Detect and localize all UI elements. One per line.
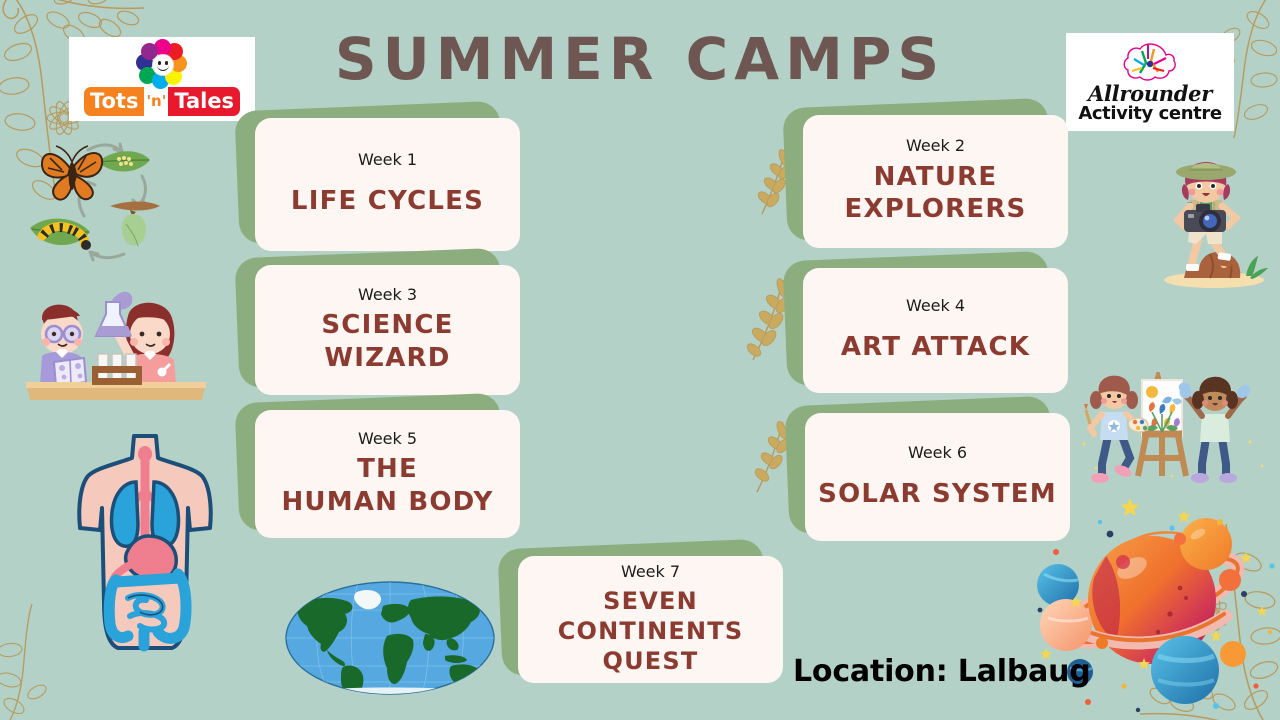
card-title-line: SCIENCE bbox=[321, 309, 453, 342]
page-title: SUMMER CAMPS bbox=[0, 30, 1280, 88]
card-title: NATURE EXPLORERS bbox=[845, 161, 1027, 226]
week-label: Week 2 bbox=[906, 137, 965, 155]
card-title: SOLAR SYSTEM bbox=[818, 478, 1057, 511]
floral-vine-corner-decoration bbox=[1136, 519, 1280, 720]
human-body-organs-illustration bbox=[62, 432, 228, 654]
week-label: Week 5 bbox=[358, 430, 417, 448]
card-title-line: EXPLORERS bbox=[845, 193, 1027, 226]
week-card-6[interactable]: Week 6 SOLAR SYSTEM bbox=[805, 413, 1070, 541]
card-title-line: ART ATTACK bbox=[841, 331, 1030, 364]
week-card-1[interactable]: Week 1 LIFE CYCLES bbox=[255, 118, 520, 251]
card-title: LIFE CYCLES bbox=[291, 185, 484, 218]
week-label: Week 7 bbox=[621, 563, 680, 581]
kids-painting-easel-illustration bbox=[1072, 372, 1272, 488]
week-label: Week 6 bbox=[908, 444, 967, 462]
logo-word-tots: Tots bbox=[84, 87, 145, 116]
week-card-7[interactable]: Week 7 SEVEN CONTINENTS QUEST bbox=[518, 556, 783, 683]
card-title-line: THE bbox=[281, 453, 493, 486]
week-card-4[interactable]: Week 4 ART ATTACK bbox=[803, 268, 1068, 393]
week-label: Week 4 bbox=[906, 297, 965, 315]
card-title-line: NATURE bbox=[845, 161, 1027, 194]
logo-word-n: 'n' bbox=[144, 87, 168, 116]
science-kids-illustration bbox=[20, 282, 210, 410]
location-label: Location: Lalbaug bbox=[793, 657, 1091, 687]
logo-activity-centre-text: Activity centre bbox=[1078, 105, 1221, 123]
explorer-girl-camera-illustration bbox=[1152, 158, 1274, 290]
week-card-2[interactable]: Week 2 NATURE EXPLORERS bbox=[803, 115, 1068, 248]
card-title-line: WIZARD bbox=[321, 342, 453, 375]
week-card-3[interactable]: Week 3 SCIENCE WIZARD bbox=[255, 265, 520, 395]
week-card-5[interactable]: Week 5 THE HUMAN BODY bbox=[255, 410, 520, 538]
week-label: Week 3 bbox=[358, 286, 417, 304]
butterfly-life-cycle-illustration bbox=[18, 128, 193, 273]
summer-camps-poster: Tots 'n' Tales Allro bbox=[0, 0, 1280, 720]
card-title-line: SEVEN CONTINENTS bbox=[530, 586, 771, 646]
card-title-line: HUMAN BODY bbox=[281, 486, 493, 519]
floral-vine-corner-decoration bbox=[0, 602, 82, 720]
card-title: THE HUMAN BODY bbox=[281, 453, 493, 518]
card-title: SCIENCE WIZARD bbox=[321, 309, 453, 374]
card-title: ART ATTACK bbox=[841, 331, 1030, 364]
world-map-illustration bbox=[283, 578, 498, 698]
card-title-line: SOLAR SYSTEM bbox=[818, 478, 1057, 511]
card-title: SEVEN CONTINENTS QUEST bbox=[530, 586, 771, 676]
week-label: Week 1 bbox=[358, 151, 417, 169]
card-title-line: LIFE CYCLES bbox=[291, 185, 484, 218]
card-title-line: QUEST bbox=[530, 646, 771, 676]
logo-word-tales: Tales bbox=[168, 87, 240, 116]
